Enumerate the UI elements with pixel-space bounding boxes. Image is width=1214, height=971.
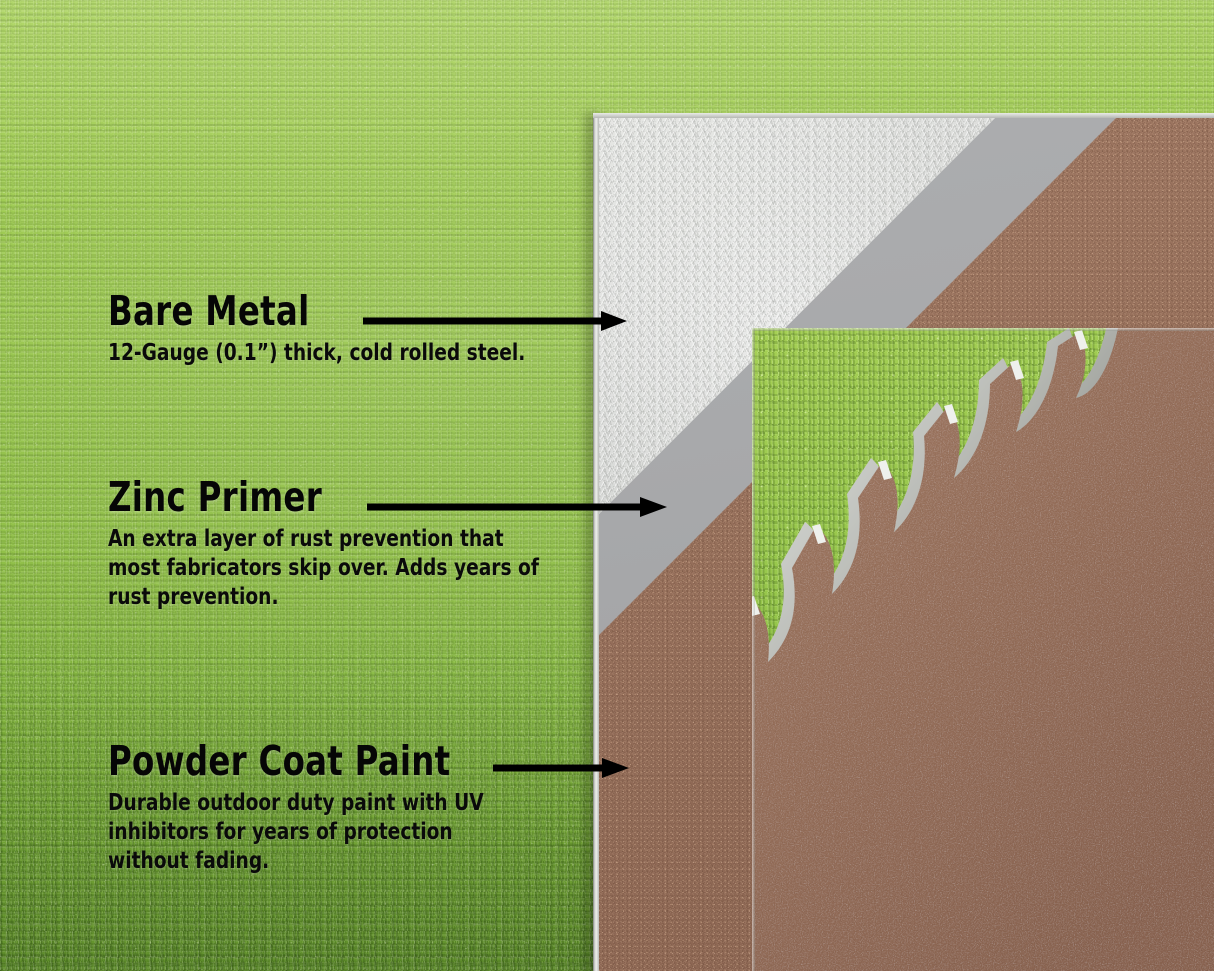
callout-body-bare-metal: 12-Gauge (0.1”) thick, cold rolled steel… (108, 339, 576, 368)
callout-powder-coat-paint: Powder Coat Paint Durable outdoor duty p… (108, 742, 568, 876)
callout-title-zinc-primer: Zinc Primer (108, 478, 548, 517)
plate-top-cut-edge (593, 113, 1214, 118)
callout-body-powder-coat: Durable outdoor duty paint with UV inhib… (108, 789, 522, 876)
callout-zinc-primer: Zinc Primer An extra layer of rust preve… (108, 478, 608, 612)
callout-body-zinc-primer: An extra layer of rust prevention that m… (108, 525, 558, 612)
infographic-canvas: Bare Metal 12-Gauge (0.1”) thick, cold r… (0, 0, 1214, 971)
callout-title-powder-coat: Powder Coat Paint (108, 742, 513, 781)
callout-title-bare-metal: Bare Metal (108, 292, 566, 331)
sun-starburst-icon (752, 328, 1214, 971)
window-top-edge (752, 328, 1214, 331)
window-left-edge (752, 328, 755, 971)
callout-bare-metal: Bare Metal 12-Gauge (0.1”) thick, cold r… (108, 292, 628, 368)
artwork-inset-window (752, 328, 1214, 971)
